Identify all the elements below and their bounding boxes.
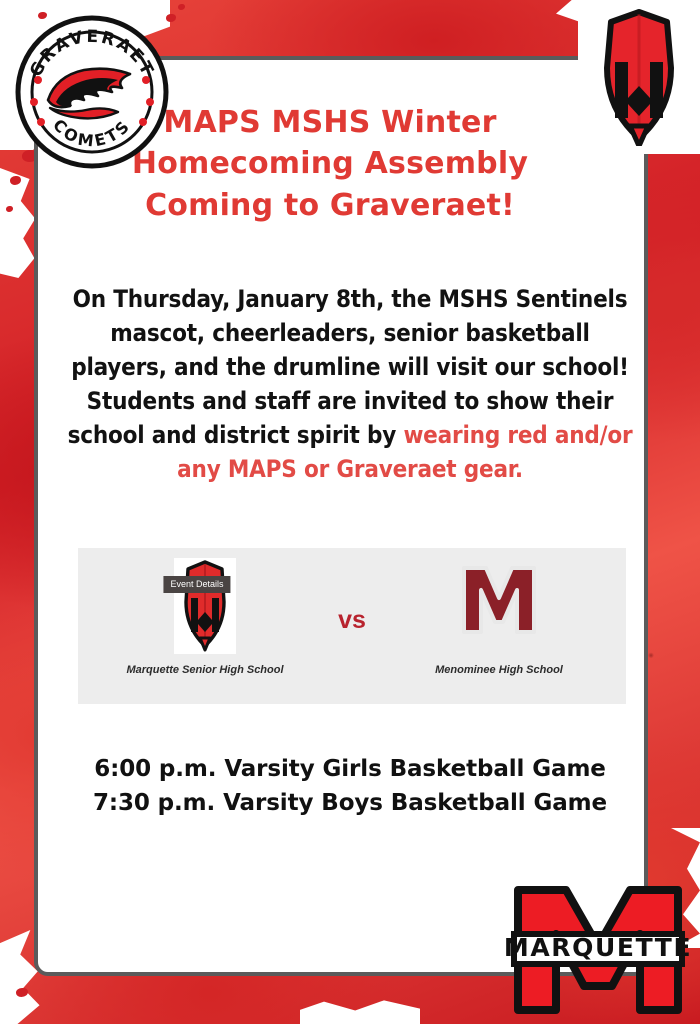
menominee-block-m-icon[interactable] xyxy=(456,562,542,642)
game-time-2: 7:30 p.m. Varsity Boys Basketball Game xyxy=(64,786,636,820)
matchup-panel: Event Details Marquette Senior High Scho… xyxy=(78,548,626,704)
away-team-logo-slot xyxy=(384,558,614,654)
game-times: 6:00 p.m. Varsity Girls Basketball Game … xyxy=(64,752,636,820)
poster: MAPS MSHS Winter Homecoming Assembly Com… xyxy=(0,0,700,1024)
away-team-name: Menominee High School xyxy=(384,664,614,676)
marquette-block-m-logo: MARQUETTE xyxy=(500,876,696,1024)
home-team-name: Marquette Senior High School xyxy=(90,664,320,676)
event-details-tooltip: Event Details xyxy=(163,576,230,593)
away-team: Menominee High School xyxy=(384,548,614,704)
game-time-1: 6:00 p.m. Varsity Girls Basketball Game xyxy=(64,752,636,786)
graveraet-comets-logo: GRAVERAET COMETS xyxy=(14,14,170,170)
headline-line-3: Coming to Graveraet! xyxy=(70,185,590,226)
marquette-wordmark: MARQUETTE xyxy=(504,933,692,962)
mshs-sentinels-logo xyxy=(578,0,700,154)
announcement-body: On Thursday, January 8th, the MSHS Senti… xyxy=(64,282,636,486)
